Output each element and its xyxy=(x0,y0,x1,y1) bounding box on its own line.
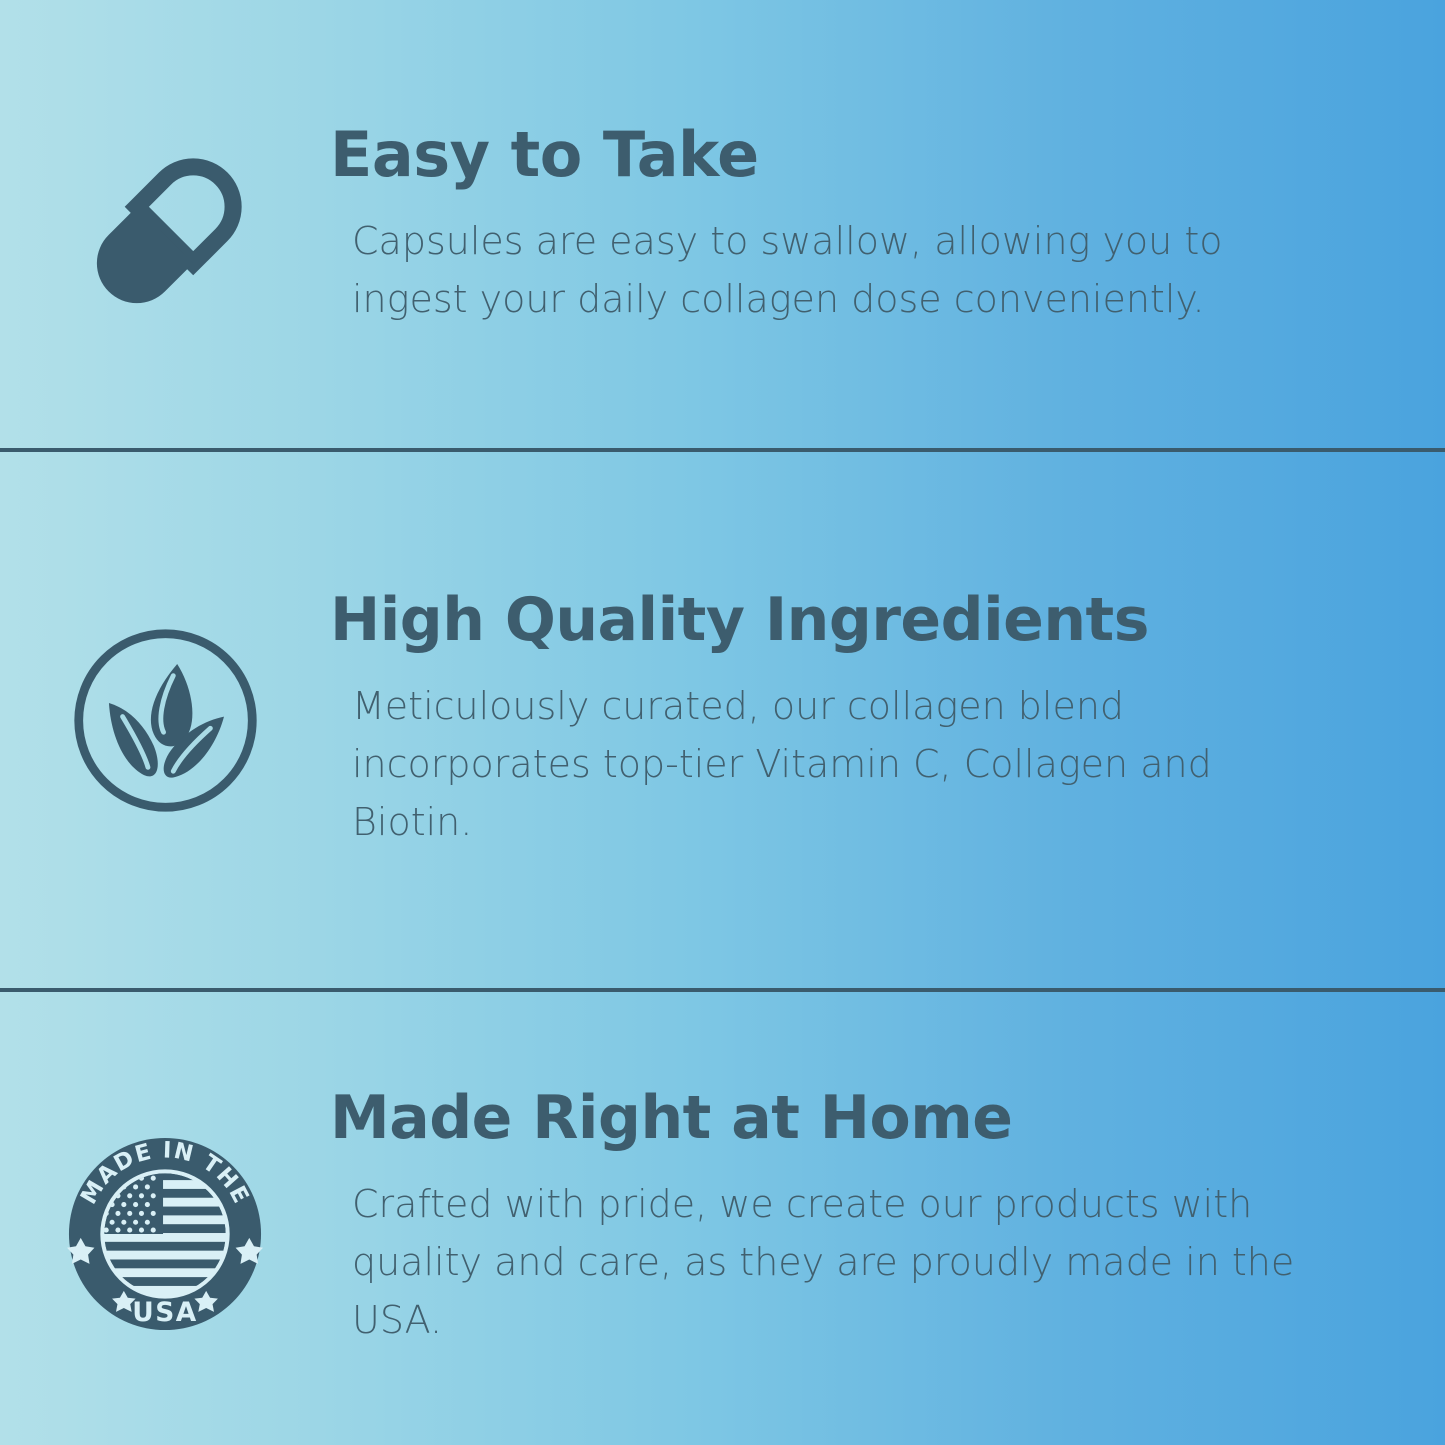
feature-icon-container: MADE IN THE USA xyxy=(0,1106,330,1332)
feature-icon-container xyxy=(0,120,330,330)
feature-description: Crafted with pride, we create our produc… xyxy=(352,1176,1367,1349)
feature-text-container: Easy to Take Capsules are easy to swallo… xyxy=(330,122,1445,329)
feature-description: Capsules are easy to swallow, allowing y… xyxy=(352,213,1337,329)
feature-description: Meticulously curated, our collagen blend… xyxy=(352,678,1312,851)
feature-benefits-banner: Easy to Take Capsules are easy to swallo… xyxy=(0,0,1445,1445)
feature-text-container: High Quality Ingredients Meticulously cu… xyxy=(330,589,1445,851)
pill-capsule-icon xyxy=(70,140,260,330)
made-in-usa-badge-icon: MADE IN THE USA xyxy=(67,1136,263,1332)
feature-heading: Easy to Take xyxy=(330,122,1375,187)
feature-heading: Made Right at Home xyxy=(330,1087,1375,1150)
feature-text-container: Made Right at Home Crafted with pride, w… xyxy=(330,1087,1445,1349)
feature-row-easy-to-take: Easy to Take Capsules are easy to swallo… xyxy=(0,0,1445,450)
feature-icon-container xyxy=(0,623,330,818)
feature-heading: High Quality Ingredients xyxy=(330,589,1375,652)
badge-bottom-text: USA xyxy=(132,1297,197,1328)
feature-row-made-right-at-home: MADE IN THE USA Made Right at Home Craft… xyxy=(0,992,1445,1445)
feature-row-high-quality-ingredients: High Quality Ingredients Meticulously cu… xyxy=(0,452,1445,989)
leaves-in-circle-icon xyxy=(68,623,263,818)
